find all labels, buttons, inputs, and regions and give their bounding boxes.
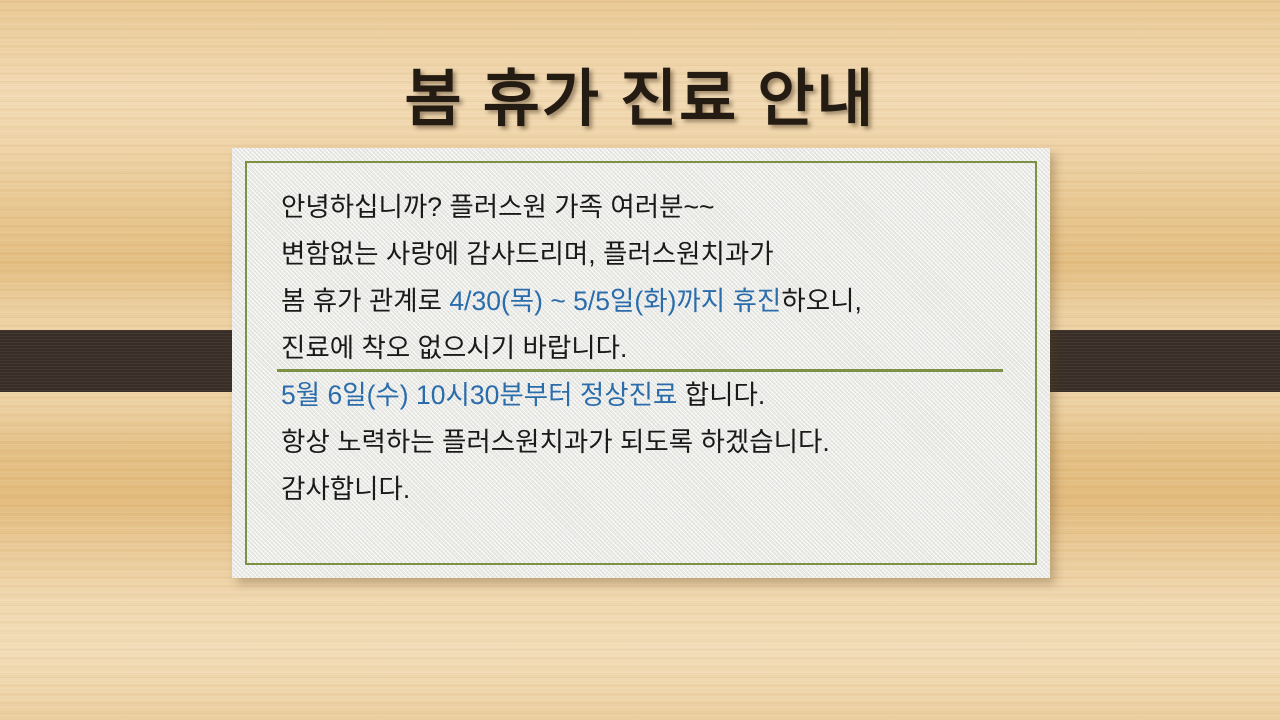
ribbon-band-right (1024, 330, 1280, 392)
text-segment: 안녕하십니까? 플러스원 가족 여러분~~ (281, 192, 714, 222)
text-segment: 감사합니다. (281, 474, 410, 504)
text-line-closure-period: 봄 휴가 관계로 4/30(목) ~ 5/5일(화)까지 휴진하오니, (281, 278, 1020, 325)
announcement-body: 안녕하십니까? 플러스원 가족 여러분~~ 변함없는 사랑에 감사드리며, 플러… (281, 184, 1020, 513)
slide-canvas: 봄 휴가 진료 안내 안녕하십니까? 플러스원 가족 여러분~~ 변함없는 사랑… (0, 0, 1280, 720)
announcement-card: 안녕하십니까? 플러스원 가족 여러분~~ 변함없는 사랑에 감사드리며, 플러… (232, 148, 1050, 578)
text-segment: 진료에 착오 없으시기 바랍니다. (281, 333, 627, 363)
text-segment: 항상 노력하는 플러스원치과가 되도록 하겠습니다. (281, 427, 830, 457)
text-line-promise: 항상 노력하는 플러스원치과가 되도록 하겠습니다. (281, 419, 1020, 466)
text-segment: 5월 6일(수) 10시30분부터 정상진료 (281, 380, 677, 410)
ribbon-band-left (0, 330, 256, 392)
text-line-greeting: 안녕하십니까? 플러스원 가족 여러분~~ (281, 184, 1020, 231)
text-line-reopen: 5월 6일(수) 10시30분부터 정상진료 합니다. (281, 372, 1020, 419)
text-segment: 변함없는 사랑에 감사드리며, 플러스원치과가 (281, 239, 774, 269)
text-segment: 하오니, (781, 286, 862, 316)
text-segment: 합니다. (677, 380, 765, 410)
text-line-notice: 진료에 착오 없으시기 바랍니다. (281, 325, 1020, 372)
text-line-closing: 감사합니다. (281, 466, 1020, 513)
text-segment: 봄 휴가 관계로 (281, 286, 449, 316)
section-divider (277, 369, 1003, 372)
text-line-thanks: 변함없는 사랑에 감사드리며, 플러스원치과가 (281, 231, 1020, 278)
text-segment: 4/30(목) ~ 5/5일(화)까지 휴진 (449, 286, 781, 316)
page-title: 봄 휴가 진료 안내 (0, 48, 1280, 138)
